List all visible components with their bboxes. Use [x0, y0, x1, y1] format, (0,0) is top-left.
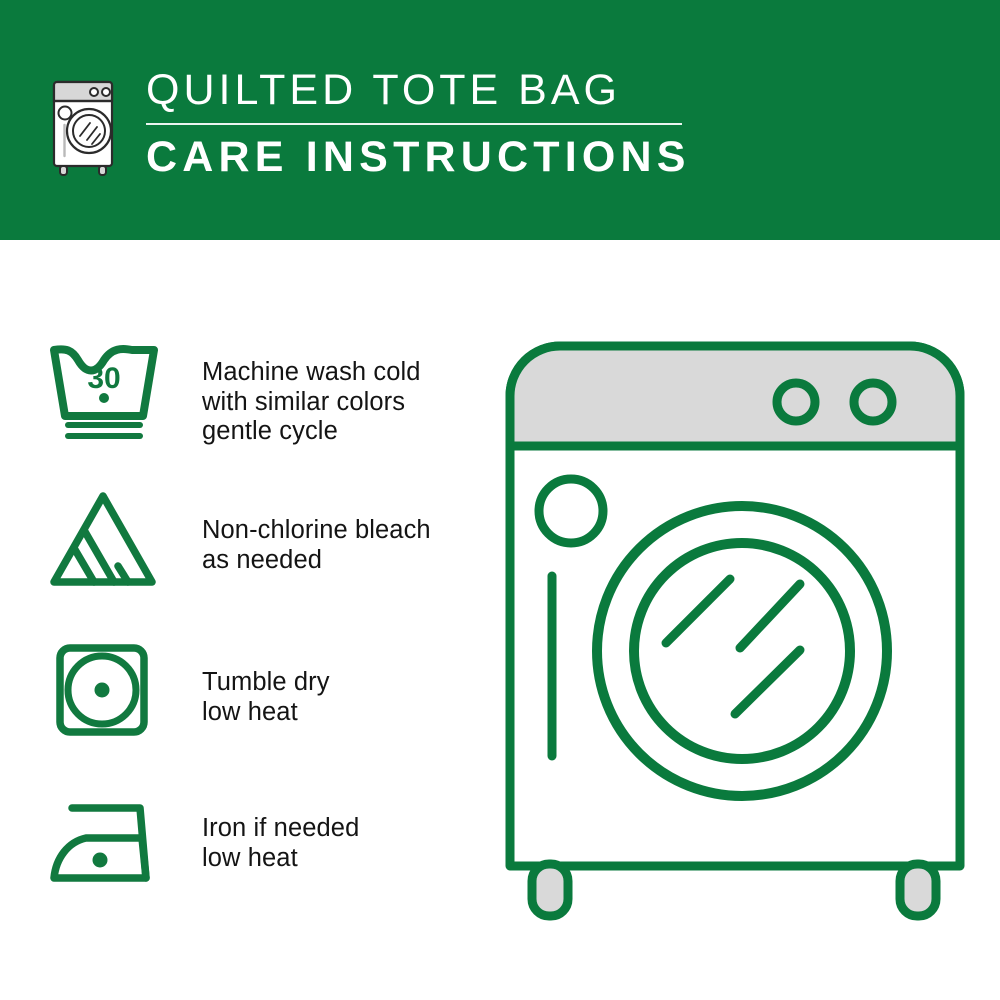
title-divider	[146, 123, 682, 125]
care-instructions-page: QUILTED TOTE BAG CARE INSTRUCTIONS 30	[0, 0, 1000, 1000]
machine-leg-left	[532, 864, 568, 916]
instruction-line: Iron if needed	[202, 814, 359, 844]
header-title-group: QUILTED TOTE BAG CARE INSTRUCTIONS	[146, 66, 706, 181]
washing-machine-illustration	[500, 336, 970, 936]
instruction-row-iron: Iron if needed low heat	[46, 780, 486, 930]
washing-machine-logo-icon	[44, 68, 128, 176]
instruction-row-wash: 30 Machine wash cold with similar colors…	[46, 330, 486, 480]
iron-icon	[46, 780, 166, 902]
instruction-line: Machine wash cold	[202, 358, 421, 388]
tumble-dry-icon	[46, 630, 166, 746]
header-banner: QUILTED TOTE BAG CARE INSTRUCTIONS	[0, 0, 1000, 240]
indicator-circle-icon	[539, 479, 603, 543]
instruction-line: with similar colors	[202, 388, 421, 418]
page-subtitle: CARE INSTRUCTIONS	[146, 133, 706, 181]
instruction-line: low heat	[202, 698, 330, 728]
knob-right-icon	[854, 383, 892, 421]
instruction-text-wash: Machine wash cold with similar colors ge…	[166, 330, 421, 447]
instruction-line: as needed	[202, 546, 431, 576]
machine-leg-right	[900, 864, 936, 916]
instruction-text-tumble-dry: Tumble dry low heat	[166, 630, 330, 727]
instruction-line: Tumble dry	[202, 668, 330, 698]
bleach-triangle-icon	[46, 480, 166, 594]
instructions-list: 30 Machine wash cold with similar colors…	[46, 330, 486, 930]
instruction-text-iron: Iron if needed low heat	[166, 780, 359, 873]
wash-temperature-value: 30	[87, 362, 120, 395]
instruction-line: low heat	[202, 844, 359, 874]
instruction-row-bleach: Non-chlorine bleach as needed	[46, 480, 486, 630]
instruction-text-bleach: Non-chlorine bleach as needed	[166, 480, 431, 575]
knob-left-icon	[777, 383, 815, 421]
instruction-row-tumble-dry: Tumble dry low heat	[46, 630, 486, 780]
page-title: QUILTED TOTE BAG	[146, 66, 706, 114]
instruction-line: gentle cycle	[202, 417, 421, 447]
instruction-line: Non-chlorine bleach	[202, 516, 431, 546]
wash-tub-icon: 30	[46, 330, 166, 442]
